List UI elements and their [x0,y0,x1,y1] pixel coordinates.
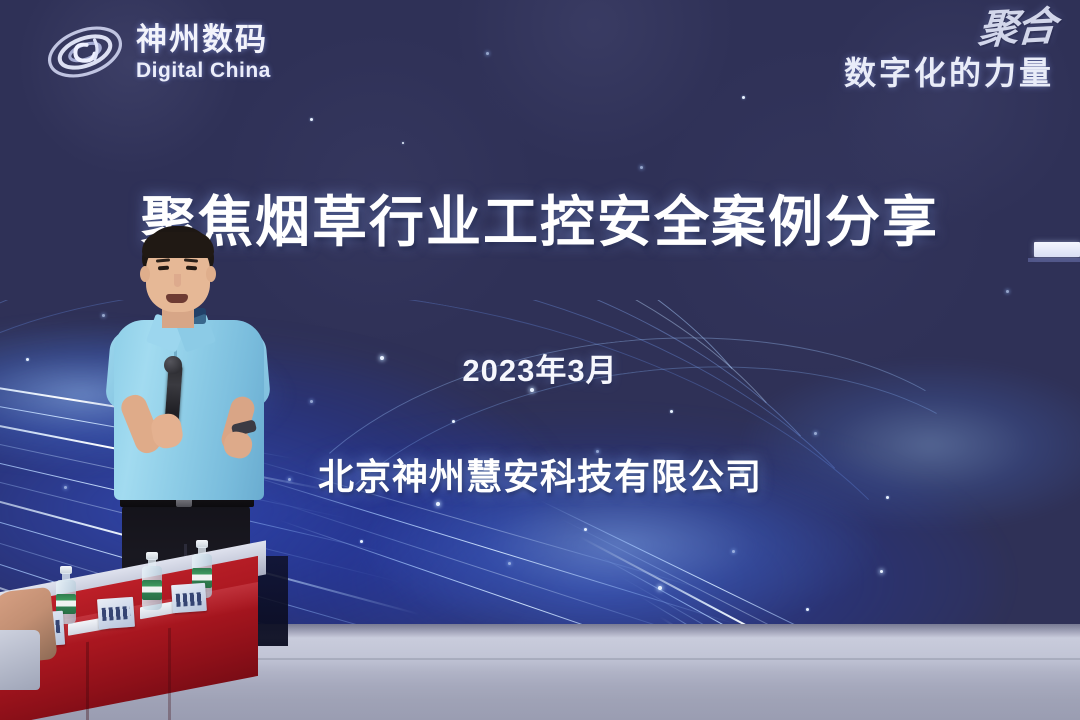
speaker-ear-left [140,266,150,282]
name-plate [97,597,135,629]
foreground-attendee-sleeve [0,630,40,690]
microphone-head-icon [164,356,182,374]
stage-photo: 神州数码 Digital China 聚合 数字化的力量 聚焦烟草行业工控安全案… [0,0,1080,720]
speaker-eye-right [186,266,197,271]
brand-name-en: Digital China [136,60,271,81]
speaker-hair-fringe [142,232,214,258]
speaker-nose [174,274,181,287]
spiral-galaxy-logo-icon [44,16,126,88]
brand-wordmark: 神州数码 Digital China [136,24,271,81]
screen-edge-graphic-secondary [1028,258,1080,262]
speaker-ear-right [206,266,216,282]
table-cloth-fold [168,628,171,720]
table-cloth-fold [86,642,89,720]
brand-name-cn: 神州数码 [136,24,271,55]
brand-logo: 神州数码 Digital China [44,16,271,88]
slogan-calligraphy: 聚合 [842,9,1056,56]
event-slogan: 聚合 数字化的力量 [844,14,1054,94]
slogan-subtitle: 数字化的力量 [844,48,1054,94]
speaker-mouth [166,294,188,303]
name-plate [171,583,207,613]
screen-edge-graphic [1034,242,1080,257]
speaker-eye-left [158,266,169,271]
